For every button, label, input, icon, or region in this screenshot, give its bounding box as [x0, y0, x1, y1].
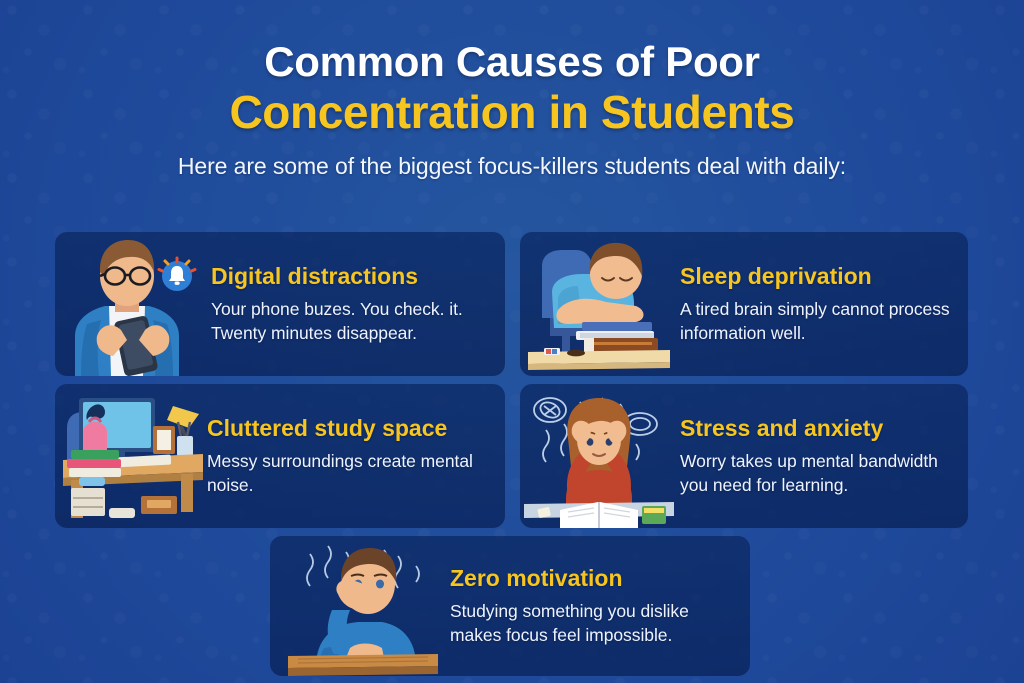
illustration-man-on-phone: [57, 232, 207, 376]
card-title: Zero motivation: [450, 565, 740, 591]
card-copy: Stress and anxiety Worry takes up mental…: [674, 415, 968, 497]
card-title: Cluttered study space: [207, 415, 495, 441]
page-title-line2: Concentration in Students: [0, 85, 1024, 139]
card-title: Sleep deprivation: [680, 263, 958, 289]
card-description: Messy surroundings create mental noise.: [207, 450, 495, 497]
card-title: Stress and anxiety: [680, 415, 958, 441]
card-copy: Cluttered study space Messy surroundings…: [207, 415, 505, 497]
card-description: A tired brain simply cannot process info…: [680, 298, 958, 345]
page-title-line1: Common Causes of Poor: [0, 38, 1024, 85]
illustration-messy-desk: [57, 384, 207, 528]
illustration-sleeping-student: [524, 232, 674, 376]
cause-card-zero-motivation: Zero motivation Studying something you d…: [270, 536, 750, 676]
card-copy: Sleep deprivation A tired brain simply c…: [674, 263, 968, 345]
illustration-bored-student: [288, 536, 438, 676]
page-subtitle: Here are some of the biggest focus-kille…: [0, 153, 1024, 180]
card-description: Worry takes up mental bandwidth you need…: [680, 450, 958, 497]
illustration-stressed-student: [524, 384, 674, 528]
card-copy: Zero motivation Studying something you d…: [438, 565, 750, 647]
cause-card-sleep-deprivation: Sleep deprivation A tired brain simply c…: [520, 232, 968, 376]
card-copy: Digital distractions Your phone buzes. Y…: [207, 263, 505, 345]
cause-card-digital-distractions: Digital distractions Your phone buzes. Y…: [55, 232, 505, 376]
header: Common Causes of Poor Concentration in S…: [0, 0, 1024, 180]
card-description: Studying something you dislike makes foc…: [450, 600, 740, 647]
infographic-page: Common Causes of Poor Concentration in S…: [0, 0, 1024, 683]
cause-card-cluttered-study-space: Cluttered study space Messy surroundings…: [55, 384, 505, 528]
cause-card-stress-and-anxiety: Stress and anxiety Worry takes up mental…: [520, 384, 968, 528]
card-title: Digital distractions: [211, 263, 495, 289]
card-description: Your phone buzes. You check. it. Twenty …: [211, 298, 495, 345]
